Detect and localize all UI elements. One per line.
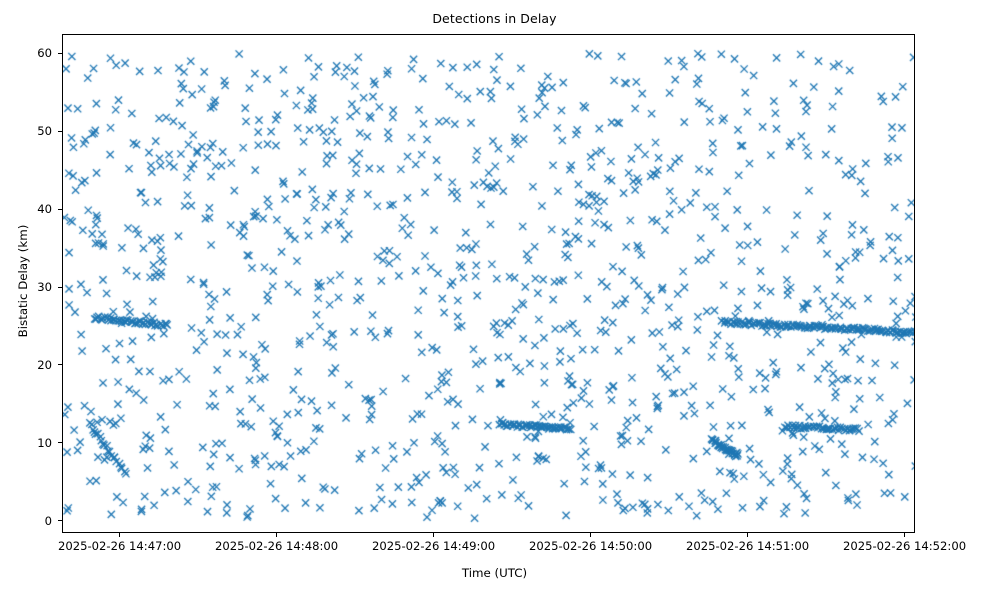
x-tick-mark (433, 533, 434, 537)
x-tick-label: 2025-02-26 14:48:00 (215, 539, 338, 553)
y-tick-mark (58, 287, 62, 288)
y-tick-label: 10 (8, 436, 52, 450)
y-tick-label: 50 (8, 124, 52, 138)
x-tick-label: 2025-02-26 14:49:00 (372, 539, 495, 553)
x-tick-mark (904, 533, 905, 537)
y-tick-label: 40 (8, 202, 52, 216)
y-tick-mark (58, 131, 62, 132)
scatter-series (63, 35, 915, 533)
x-tick-mark (119, 533, 120, 537)
y-tick-label: 60 (8, 46, 52, 60)
x-tick-mark (747, 533, 748, 537)
y-tick-mark (58, 53, 62, 54)
x-axis-label: Time (UTC) (0, 566, 989, 580)
figure-canvas: Detections in Delay 0102030405060 2025-0… (0, 0, 989, 590)
y-tick-mark (58, 364, 62, 365)
y-tick-label: 30 (8, 280, 52, 294)
x-tick-label: 2025-02-26 14:47:00 (58, 539, 181, 553)
x-tick-label: 2025-02-26 14:51:00 (686, 539, 809, 553)
page-title: Detections in Delay (0, 11, 989, 26)
y-tick-mark (58, 442, 62, 443)
y-tick-mark (58, 209, 62, 210)
x-tick-label: 2025-02-26 14:50:00 (529, 539, 652, 553)
y-tick-mark (58, 520, 62, 521)
y-tick-label: 20 (8, 358, 52, 372)
x-tick-label: 2025-02-26 14:52:00 (843, 539, 966, 553)
plot-area[interactable] (62, 34, 915, 533)
y-tick-label: 0 (8, 514, 52, 528)
x-tick-mark (590, 533, 591, 537)
y-axis-label: Bistatic Delay (km) (16, 141, 30, 421)
x-tick-mark (276, 533, 277, 537)
